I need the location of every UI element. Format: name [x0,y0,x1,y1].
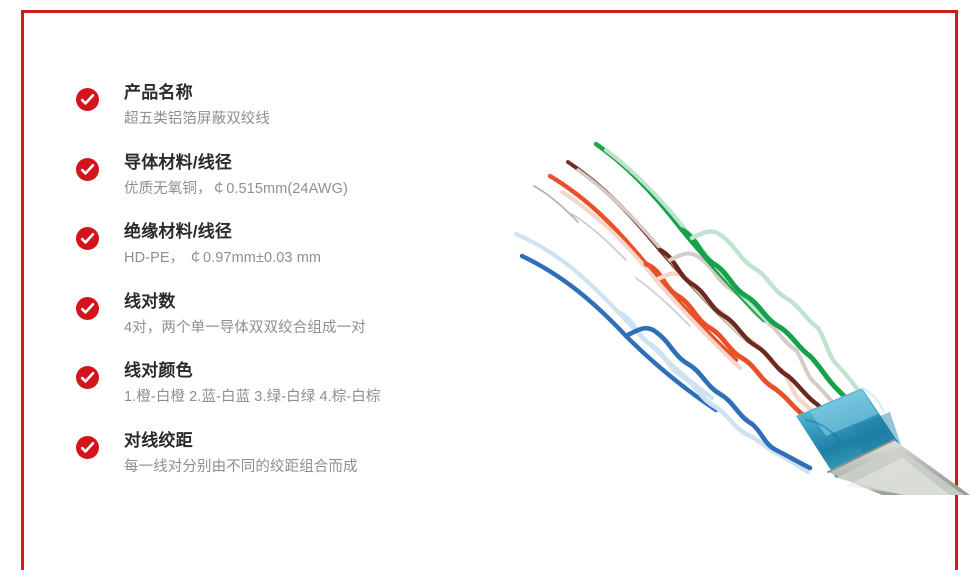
product-spec-panel: 产品名称 超五类铝箔屏蔽双绞线 导体材料/线径 优质无氧铜，￠0.515mm(2… [0,0,980,495]
spec-title: 线对数 [124,291,506,313]
spec-row-pair-count: 线对数 4对，两个单一导体双双绞合组成一对 [76,291,506,361]
green-pair [596,144,858,406]
spec-row-product-name: 产品名称 超五类铝箔屏蔽双绞线 [76,82,506,152]
orange-pair [550,176,832,438]
spec-value: HD-PE， ￠0.97mm±0.03 mm [124,249,506,268]
spec-row-twist-pitch: 对线绞距 每一线对分别由不同的绞距组合而成 [76,430,506,500]
check-circle-icon [76,436,99,459]
check-circle-icon [76,366,99,389]
stp-cat5e-cable-photo [510,130,970,495]
spec-value: 4对，两个单一导体双双绞合组成一对 [124,319,506,338]
check-circle-icon [76,227,99,250]
check-circle-icon [76,158,99,181]
spec-title: 对线绞距 [124,430,506,452]
check-circle-icon [76,297,99,320]
spec-value: 每一线对分别由不同的绞距组合而成 [124,458,506,477]
spec-value: 1.橙-白橙 2.蓝-白蓝 3.绿-白绿 4.棕-白棕 [124,388,506,407]
spec-row-conductor-material: 导体材料/线径 优质无氧铜，￠0.515mm(24AWG) [76,152,506,222]
spec-list: 产品名称 超五类铝箔屏蔽双绞线 导体材料/线径 优质无氧铜，￠0.515mm(2… [76,82,506,499]
spec-title: 线对颜色 [124,360,506,382]
spec-value: 优质无氧铜，￠0.515mm(24AWG) [124,180,506,199]
spec-row-pair-colors: 线对颜色 1.橙-白橙 2.蓝-白蓝 3.绿-白绿 4.棕-白棕 [76,360,506,430]
spec-row-insulation-material: 绝缘材料/线径 HD-PE， ￠0.97mm±0.03 mm [76,221,506,291]
spec-title: 绝缘材料/线径 [124,221,506,243]
spec-title: 产品名称 [124,82,506,104]
spec-value: 超五类铝箔屏蔽双绞线 [124,110,506,129]
spec-title: 导体材料/线径 [124,152,506,174]
check-circle-icon [76,88,99,111]
